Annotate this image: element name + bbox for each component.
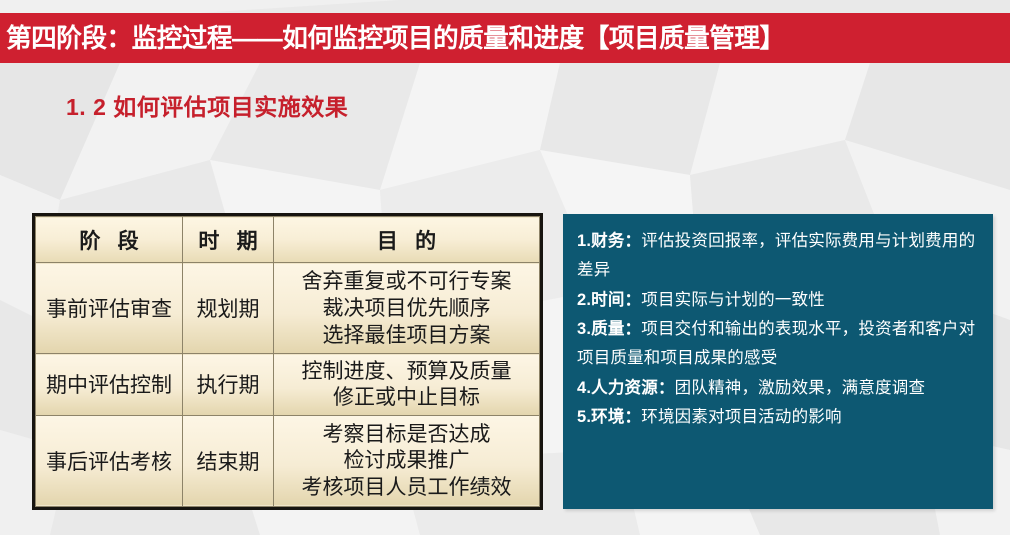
- metric-key: 3.质量：: [577, 320, 641, 338]
- cell-purpose: 考察目标是否达成 检讨成果推广 考核项目人员工作绩效: [274, 415, 540, 506]
- slide-canvas: 第四阶段：监控过程——如何监控项目的质量和进度【项目质量管理】 1. 2 如何评…: [0, 0, 1010, 535]
- evaluation-phase-table: 阶 段 时 期 目 的 事前评估审查 规划期 舍弃重复或不可行专案 裁决项目优先…: [32, 213, 543, 510]
- cell-purpose: 舍弃重复或不可行专案 裁决项目优先顺序 选择最佳项目方案: [274, 263, 540, 354]
- table-header-row: 阶 段 时 期 目 的: [36, 217, 540, 263]
- cell-phase: 事前评估审查: [36, 263, 183, 354]
- table-row: 事后评估考核 结束期 考察目标是否达成 检讨成果推广 考核项目人员工作绩效: [36, 415, 540, 506]
- column-header-purpose: 目 的: [274, 217, 540, 263]
- cell-purpose: 控制进度、预算及质量 修正或中止目标: [274, 354, 540, 415]
- metric-value: 环境因素对项目活动的影响: [641, 408, 841, 426]
- column-header-period: 时 期: [183, 217, 274, 263]
- metric-item: 4.人力资源：团队精神，激励效果，满意度调查: [577, 374, 979, 403]
- metric-key: 2.时间：: [577, 291, 641, 309]
- metric-key: 5.环境：: [577, 408, 641, 426]
- purpose-line: 裁决项目优先顺序: [274, 295, 539, 322]
- column-header-phase: 阶 段: [36, 217, 183, 263]
- metric-value: 团队精神，激励效果，满意度调查: [675, 379, 926, 397]
- metric-item: 1.财务：评估投资回报率，评估实际费用与计划费用的差异: [577, 227, 979, 286]
- metric-item: 3.质量：项目交付和输出的表现水平，投资者和客户对项目质量和项目成果的感受: [577, 315, 979, 374]
- metric-value: 项目实际与计划的一致性: [641, 291, 825, 309]
- purpose-line: 控制进度、预算及质量: [274, 358, 539, 385]
- table-row: 事前评估审查 规划期 舍弃重复或不可行专案 裁决项目优先顺序 选择最佳项目方案: [36, 263, 540, 354]
- purpose-line: 检讨成果推广: [274, 447, 539, 474]
- purpose-line: 选择最佳项目方案: [274, 322, 539, 349]
- cell-phase: 期中评估控制: [36, 354, 183, 415]
- purpose-line: 考核项目人员工作绩效: [274, 474, 539, 501]
- cell-period: 执行期: [183, 354, 274, 415]
- metric-key: 4.人力资源：: [577, 379, 675, 397]
- cell-phase: 事后评估考核: [36, 415, 183, 506]
- evaluation-metrics-panel: 1.财务：评估投资回报率，评估实际费用与计划费用的差异 2.时间：项目实际与计划…: [563, 214, 993, 509]
- purpose-line: 修正或中止目标: [274, 384, 539, 411]
- section-subtitle: 1. 2 如何评估项目实施效果: [66, 88, 348, 122]
- purpose-line: 舍弃重复或不可行专案: [274, 268, 539, 295]
- cell-period: 结束期: [183, 415, 274, 506]
- metric-item: 5.环境：环境因素对项目活动的影响: [577, 403, 979, 432]
- metric-item: 2.时间：项目实际与计划的一致性: [577, 286, 979, 315]
- page-title: 第四阶段：监控过程——如何监控项目的质量和进度【项目质量管理】: [6, 25, 785, 51]
- table-row: 期中评估控制 执行期 控制进度、预算及质量 修正或中止目标: [36, 354, 540, 415]
- cell-period: 规划期: [183, 263, 274, 354]
- metric-key: 1.财务：: [577, 232, 641, 250]
- title-banner: 第四阶段：监控过程——如何监控项目的质量和进度【项目质量管理】: [0, 13, 1010, 63]
- purpose-line: 考察目标是否达成: [274, 421, 539, 448]
